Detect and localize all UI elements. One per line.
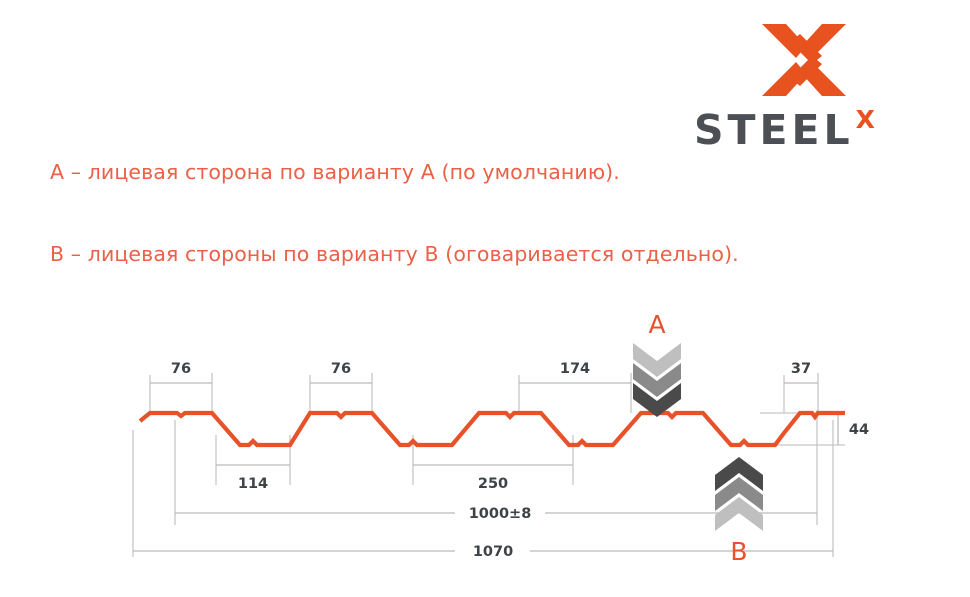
dim-end-crest: 37 <box>791 361 811 377</box>
corrugated-profile-line <box>140 413 845 445</box>
dim-trough-width: 114 <box>238 476 268 492</box>
logo-steel-text: STEEL <box>694 110 854 151</box>
dim-effective-width: 1000±8 <box>469 506 532 522</box>
chevron-down-icon <box>633 343 681 417</box>
profile-technical-drawing: 76 76 174 37 114 250 1000±8 1070 44 A B <box>0 285 970 575</box>
side-a-label: A <box>648 310 665 339</box>
logo-superscript-x: X <box>856 107 875 132</box>
dim-crest-left: 76 <box>171 361 191 377</box>
dim-crest-mid: 76 <box>331 361 351 377</box>
steelx-wordmark: STEEL X <box>694 110 914 150</box>
side-b-label: B <box>730 537 747 566</box>
dim-total-width: 1070 <box>473 544 513 560</box>
side-b-marker: B <box>715 457 763 566</box>
dim-height: 44 <box>849 422 869 438</box>
dimension-labels: 76 76 174 37 114 250 1000±8 1070 44 <box>171 361 869 560</box>
caption-variant-b: В – лицевая стороны по варианту В (огова… <box>50 242 739 266</box>
dim-flat-top: 174 <box>560 361 590 377</box>
chevron-up-icon <box>715 457 763 531</box>
steelx-x-mark-icon <box>760 22 848 98</box>
dim-pitch: 250 <box>478 476 508 492</box>
caption-variant-a: А – лицевая сторона по варианту А (по ум… <box>50 160 620 184</box>
steelx-logo: STEEL X <box>694 22 914 147</box>
side-a-marker: A <box>633 310 681 417</box>
